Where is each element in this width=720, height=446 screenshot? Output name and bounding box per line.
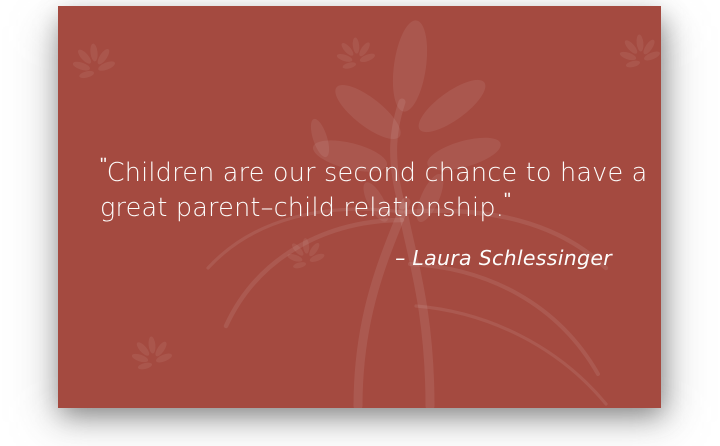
close-quote-mark: ʺ: [504, 189, 511, 211]
quote-line-2: great parent–child relationship.ʺ: [100, 183, 630, 225]
quote-line-2-text: great parent–child relationship.: [100, 193, 504, 223]
page-canvas: ʺChildren are our second chance to have …: [0, 0, 720, 446]
quote-attribution: – Laura Schlessinger: [58, 246, 612, 270]
open-quote-mark: ʺ: [100, 154, 107, 176]
quote-card: ʺChildren are our second chance to have …: [58, 6, 661, 408]
quote-text-block: ʺChildren are our second chance to have …: [58, 6, 661, 408]
